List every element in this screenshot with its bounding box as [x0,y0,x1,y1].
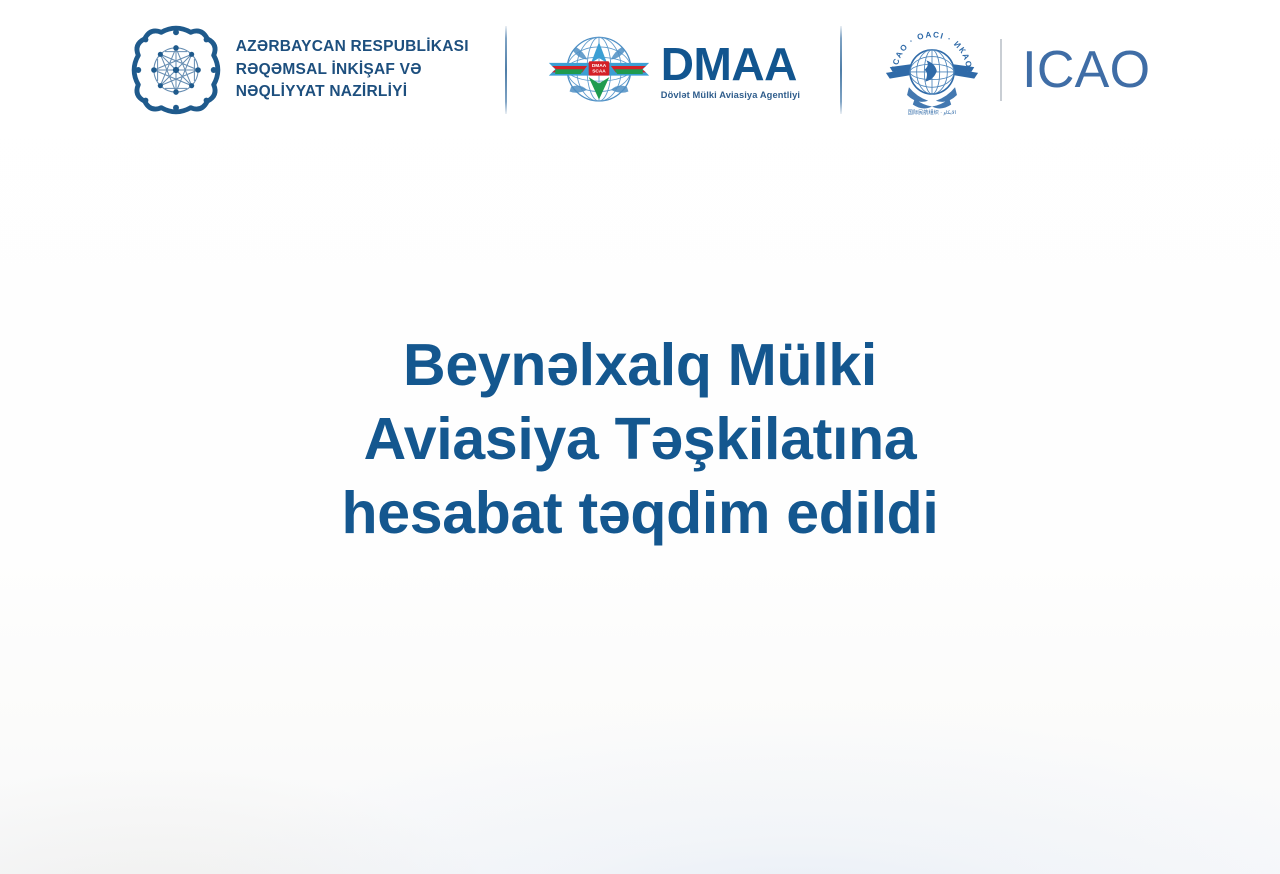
svg-text:DMAA: DMAA [592,63,607,69]
dmaa-subtitle-text: Dövlət Mülki Aviasiya Agentliyi [661,90,800,100]
page-title-line-3: hesabat təqdim edildi [0,476,1280,550]
logo-header-bar: AZƏRBAYCAN RESPUBLİKASI RƏQƏMSAL İNKİŞAF… [0,0,1280,140]
poster-canvas: AZƏRBAYCAN RESPUBLİKASI RƏQƏMSAL İNKİŞAF… [0,0,1280,874]
icao-wordmark-text: ICAO [1022,44,1150,96]
dmaa-title-text: DMAA [661,41,797,87]
brand-dmaa: DMAA SCAA DMAA Dövlət Mülki Aviasiya Age… [507,20,840,120]
icao-globe-wings-emblem-icon: ICAO · OACI · ИКАО [884,22,980,118]
brand-icao: ICAO · OACI · ИКАО [842,20,1180,120]
ministry-network-emblem-icon [130,24,222,116]
ministry-name-text: AZƏRBAYCAN RESPUBLİKASI RƏQƏMSAL İNKİŞAF… [236,36,469,105]
page-title: Beynəlxalq Mülki Aviasiya Təşkilatına he… [0,328,1280,551]
page-title-line-2: Aviasiya Təşkilatına [0,402,1280,476]
dmaa-winged-emblem-icon: DMAA SCAA [547,31,651,109]
page-title-line-1: Beynəlxalq Mülki [0,328,1280,402]
brand-ministry: AZƏRBAYCAN RESPUBLİKASI RƏQƏMSAL İNKİŞAF… [100,20,505,120]
svg-text:SCAA: SCAA [592,68,606,74]
dmaa-wordmark-group: DMAA Dövlət Mülki Aviasiya Agentliyi [661,41,800,100]
icao-wordmark-divider [1000,39,1002,101]
svg-text:国际民航组织 · الايكاو: 国际民航组织 · الايكاو [908,108,956,116]
